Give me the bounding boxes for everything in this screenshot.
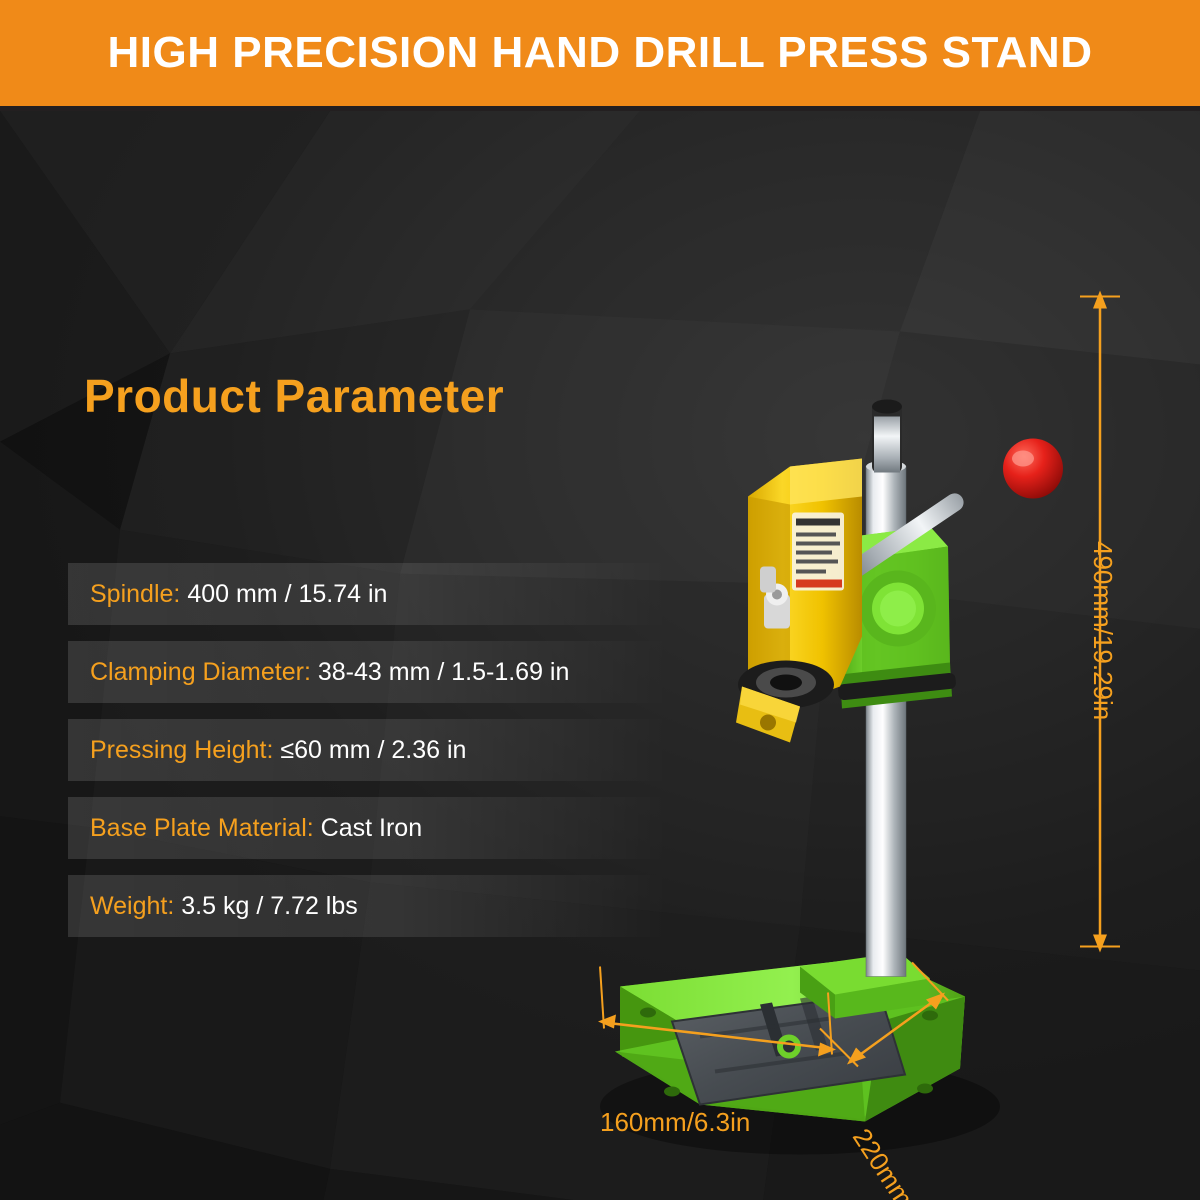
product-infographic-page: HIGH PRECISION HAND DRILL PRESS STAND (0, 0, 1200, 1200)
base-casting (615, 953, 965, 1122)
parameter-key: Weight: (90, 892, 174, 921)
handle-knob (1003, 439, 1063, 499)
column (866, 400, 906, 977)
parameter-key: Clamping Diameter: (90, 658, 311, 687)
section-title: Product Parameter (84, 369, 504, 423)
parameter-key: Base Plate Material: (90, 814, 314, 843)
page-title: HIGH PRECISION HAND DRILL PRESS STAND (108, 31, 1093, 75)
parameter-key: Spindle: (90, 580, 180, 609)
parameter-value: 400 mm / 15.74 in (187, 580, 387, 609)
parameter-value: 3.5 kg / 7.72 lbs (181, 892, 358, 921)
parameter-row: Spindle: 400 mm / 15.74 in (68, 563, 668, 625)
feed-handle (841, 439, 1063, 627)
header-banner: HIGH PRECISION HAND DRILL PRESS STAND (0, 0, 1200, 106)
parameter-row: Base Plate Material: Cast Iron (68, 797, 668, 859)
dimension-height-label: 490mm/19.29in (1087, 541, 1118, 720)
head-bracket (818, 527, 957, 709)
yellow-head (736, 459, 862, 743)
parameter-row: Pressing Height: ≤60 mm / 2.36 in (68, 719, 668, 781)
dimension-width-label: 160mm/6.3in (600, 1107, 750, 1138)
parameter-key: Pressing Height: (90, 736, 273, 765)
parameter-row: Clamping Diameter: 38-43 mm / 1.5-1.69 i… (68, 641, 668, 703)
parameter-row: Weight: 3.5 kg / 7.72 lbs (68, 875, 668, 937)
content-stage: Product Parameter Spindle: 400 mm / 15.7… (0, 111, 1200, 1200)
parameter-value: Cast Iron (321, 814, 422, 843)
parameter-value: ≤60 mm / 2.36 in (280, 736, 466, 765)
dimension-depth-label: 220mm/8.66in (846, 1123, 962, 1200)
parameter-value: 38-43 mm / 1.5-1.69 in (318, 658, 570, 687)
